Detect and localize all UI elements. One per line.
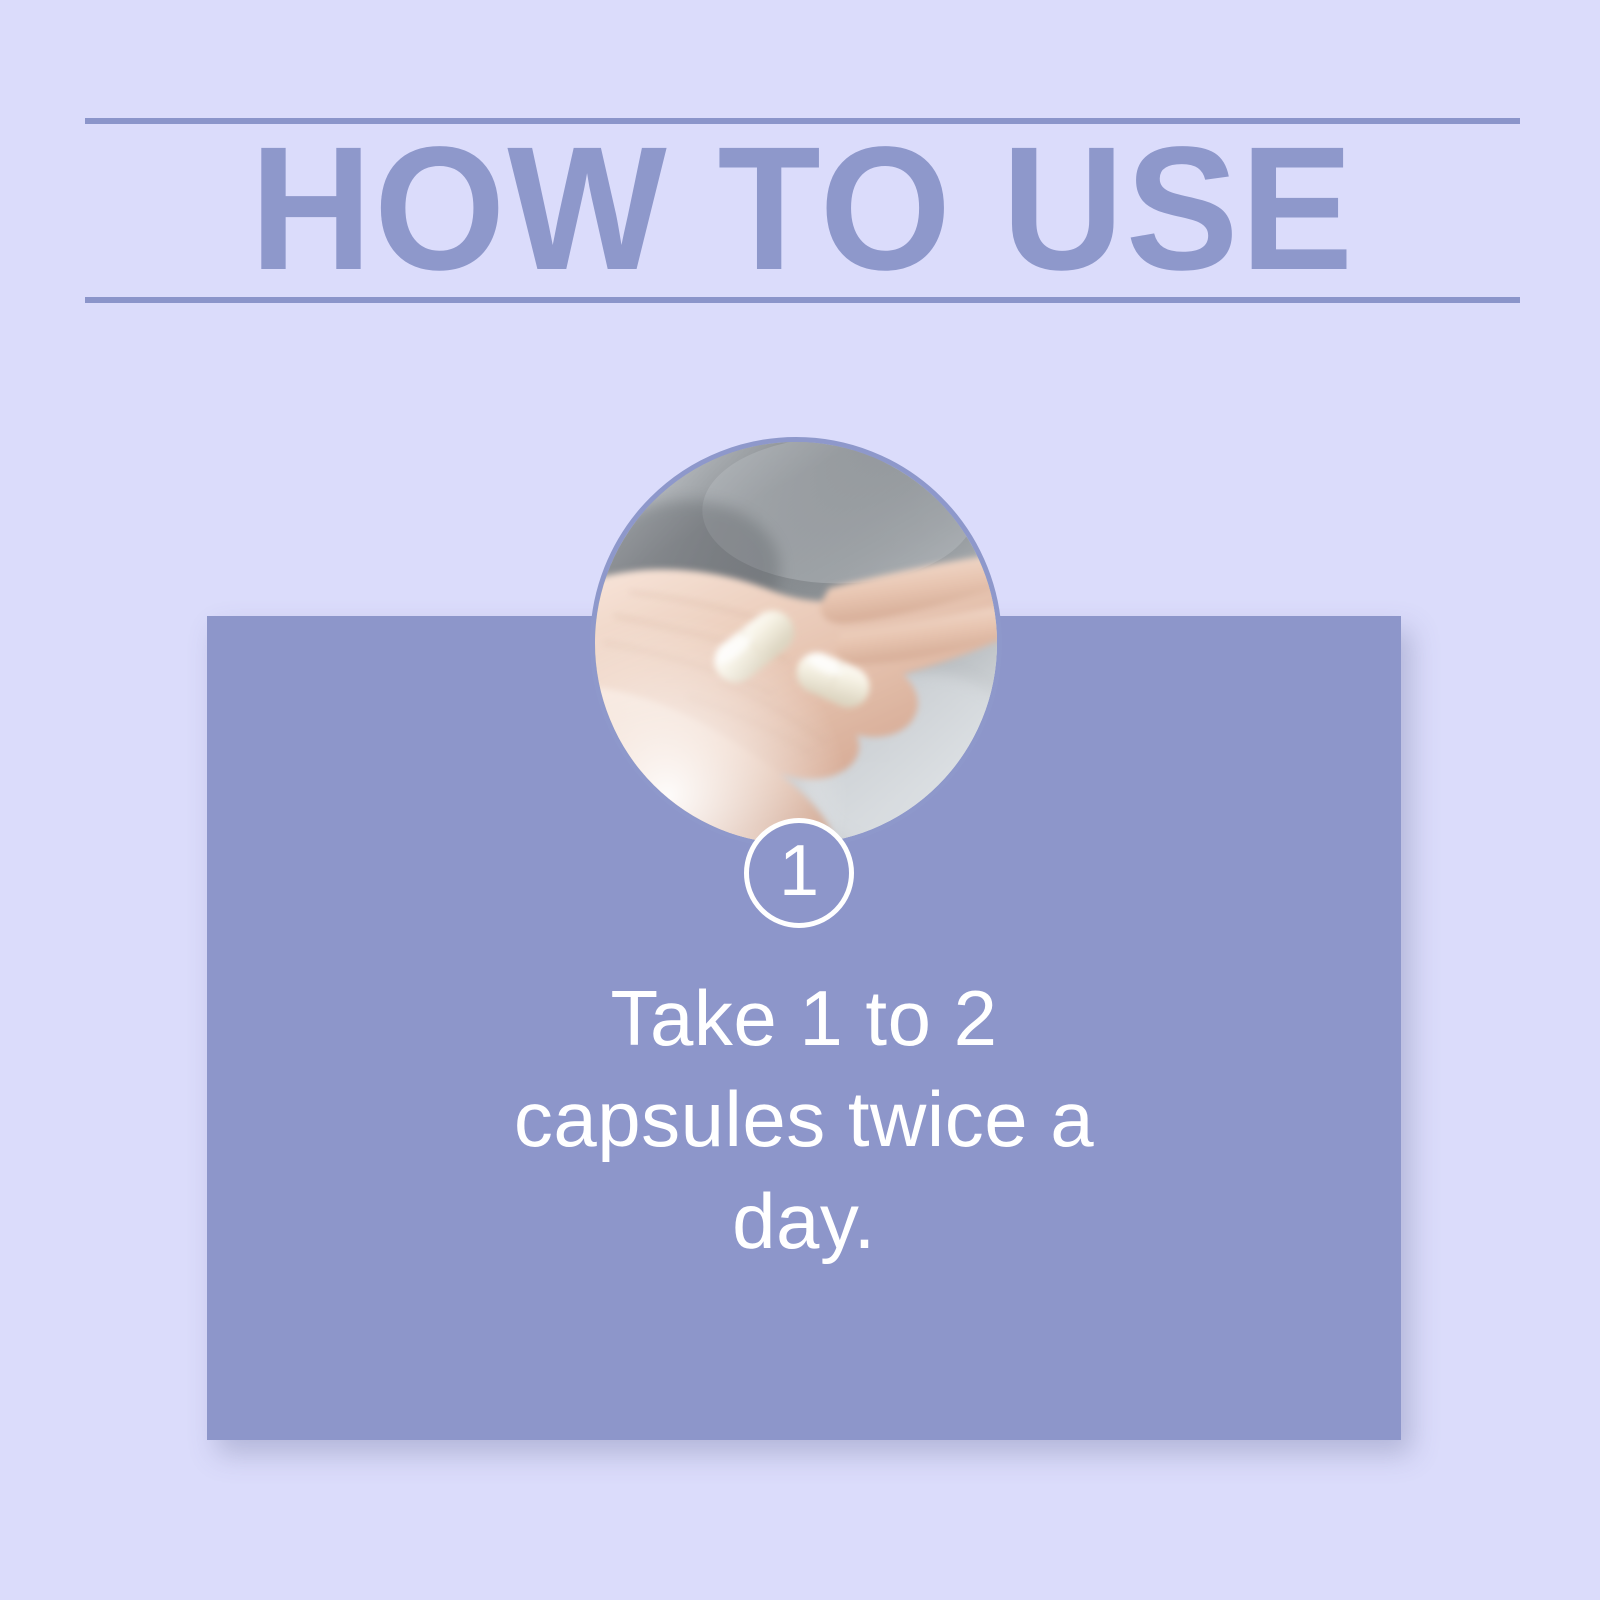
hand-with-capsules-illustration [595, 442, 997, 844]
page-title: HOW TO USE [114, 120, 1492, 297]
hand-with-capsules-photo [590, 437, 1002, 849]
how-to-use-slide: HOW TO USE Take 1 to 2 capsules twice a … [0, 0, 1600, 1600]
step-number-label: 1 [779, 835, 819, 907]
header: HOW TO USE [85, 118, 1520, 303]
step-number-badge: 1 [744, 818, 854, 928]
step-instruction-text: Take 1 to 2 capsules twice a day. [207, 968, 1401, 1272]
header-bottom-rule [85, 297, 1520, 303]
